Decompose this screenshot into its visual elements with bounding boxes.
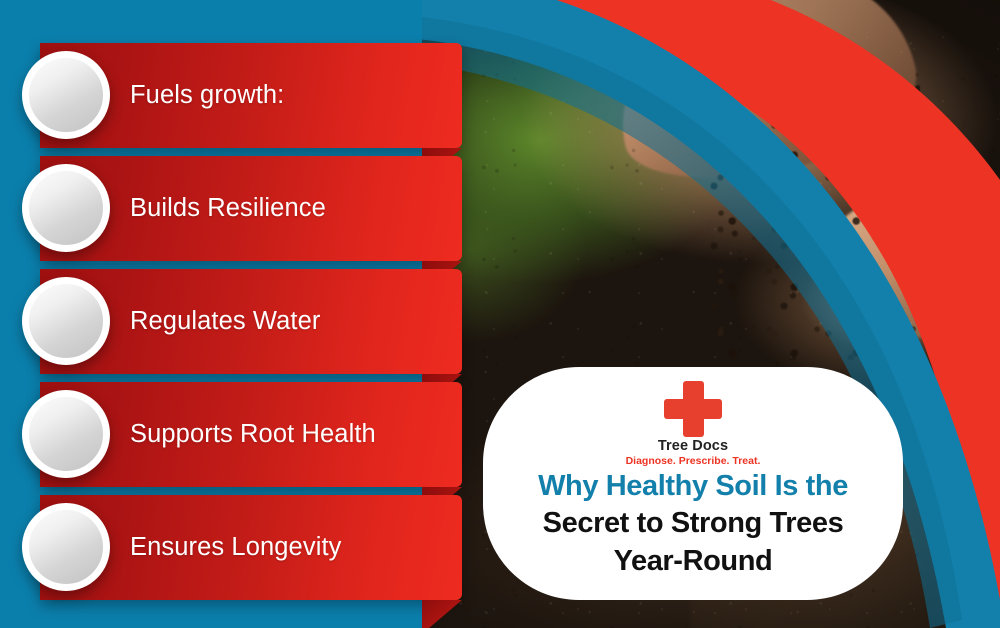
headline-line-2: Secret to Strong Trees — [497, 505, 889, 542]
benefit-label-3: Regulates Water — [130, 269, 320, 374]
brand-name: Tree Docs — [483, 439, 903, 455]
headline-line-1: Why Healthy Soil Is the — [497, 468, 889, 505]
cross-horizontal-bar — [664, 399, 722, 419]
bullet-circle-icon — [22, 164, 110, 252]
bullet-circle-icon — [22, 277, 110, 365]
benefit-label-5: Ensures Longevity — [130, 495, 342, 600]
brand-tagline: Diagnose. Prescribe. Treat. — [483, 456, 903, 468]
page-title: Why Healthy Soil Is the Secret to Strong… — [497, 468, 889, 580]
brand-logo: Tree Docs Diagnose. Prescribe. Treat. — [483, 381, 903, 467]
bullet-circle-icon — [22, 51, 110, 139]
headline-line-3: Year-Round — [497, 543, 889, 580]
benefit-label-1: Fuels growth: — [130, 43, 284, 148]
benefits-list: Fuels growth: Builds Resilience Regulate… — [0, 0, 470, 628]
headline-card: Tree Docs Diagnose. Prescribe. Treat. Wh… — [483, 367, 903, 600]
benefit-label-4: Supports Root Health — [130, 382, 376, 487]
bullet-circle-icon — [22, 503, 110, 591]
bullet-circle-icon — [22, 390, 110, 478]
infographic-canvas: Fuels growth: Builds Resilience Regulate… — [0, 0, 1000, 628]
red-cross-icon — [664, 381, 722, 437]
benefit-label-2: Builds Resilience — [130, 156, 326, 261]
